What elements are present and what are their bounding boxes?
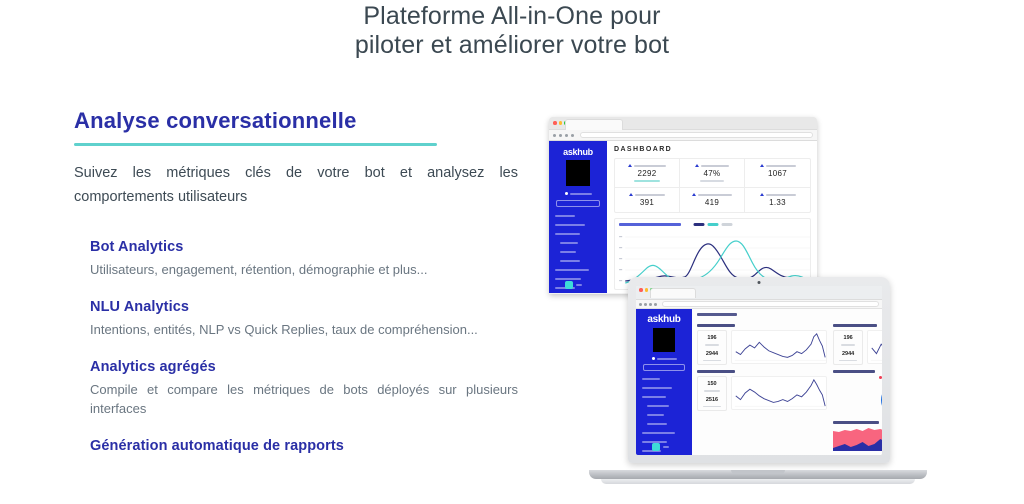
sidebar-nav [636, 378, 692, 452]
sidebar-user-row [636, 357, 692, 360]
laptop-notch [731, 470, 785, 474]
panel-body: 196 2944 [697, 330, 827, 365]
kpi-value: 419 [682, 198, 742, 207]
laptop-browser-toolbar [636, 300, 882, 309]
stat-caption [841, 344, 855, 346]
mini-line-chart [731, 376, 827, 410]
users-analytics-content: 196 2944 [692, 309, 882, 455]
chat-badge-icon[interactable] [652, 443, 660, 451]
kpi-card: 391 [615, 188, 680, 212]
browser-tab[interactable] [650, 288, 696, 298]
kpi-card: 1067 [745, 159, 810, 188]
donut-chart [881, 383, 882, 417]
kpi-label [617, 193, 677, 196]
address-bar[interactable] [662, 301, 879, 307]
sidebar-footer-label [576, 284, 582, 286]
kpi-card: 1.33 [745, 188, 810, 212]
close-icon[interactable] [639, 288, 643, 292]
stat-value: 2516 [699, 396, 725, 404]
kpi-card: 419 [680, 188, 745, 212]
kpi-label-text [766, 194, 796, 196]
sidebar-subitem-3[interactable] [647, 423, 667, 425]
kpi-label-text [634, 165, 666, 167]
back-icon[interactable] [639, 303, 642, 306]
panel-retention [833, 370, 882, 455]
panel-body: 150 2516 [697, 376, 827, 411]
laptop-browser-titlebar [636, 286, 882, 300]
close-icon[interactable] [553, 121, 557, 125]
stat-caption [703, 360, 721, 362]
user-icon [652, 357, 655, 360]
panel-recurring-users: 150 2516 [697, 370, 827, 455]
feature-title: Génération automatique de rapports [90, 436, 539, 456]
donut-chart-wrap [833, 381, 882, 417]
feature-title: Bot Analytics [90, 237, 539, 257]
sidebar-item-1[interactable] [642, 378, 660, 380]
sidebar-search-input[interactable] [556, 200, 600, 207]
trend-up-icon [628, 164, 632, 167]
sidebar-user-row [549, 192, 607, 195]
stat-caption [705, 344, 719, 346]
kpi-card: 2292 [615, 159, 680, 188]
browser-mockup: askhub DAS [549, 117, 817, 294]
feature-description: Compile et compare les métriques de bots… [90, 380, 518, 418]
laptop-viewport: askhub [636, 309, 882, 455]
stat-caption [839, 360, 857, 362]
panel-number-of-new-users: 196 2944 [833, 324, 882, 365]
panel-title [697, 370, 735, 373]
panel-title [697, 324, 735, 327]
retention-history-chart [833, 421, 882, 455]
page-headline: Plateforme All-in-One pour piloter et am… [0, 2, 1024, 60]
stat-caption [704, 390, 720, 392]
dashboard-title: DASHBOARD [614, 146, 811, 153]
reload-icon[interactable] [565, 134, 568, 137]
trend-up-icon [629, 193, 633, 196]
headline-line-1: Plateforme All-in-One pour [0, 2, 1024, 31]
kpi-subtext [700, 180, 724, 182]
laptop-lid: askhub [628, 277, 890, 463]
stat-value: 150 [699, 380, 725, 388]
trend-up-icon [760, 193, 764, 196]
feature-description: Intentions, entités, NLP vs Quick Replie… [90, 320, 520, 339]
brand-logo: askhub [636, 314, 692, 325]
stat-value: 196 [835, 334, 861, 342]
laptop-base [589, 470, 927, 479]
sidebar-footer-label [663, 446, 669, 448]
chat-badge-icon[interactable] [565, 281, 573, 289]
kpi-label [682, 164, 742, 167]
back-icon[interactable] [553, 134, 556, 137]
panel-body: 196 2944 [833, 330, 882, 365]
sidebar-item-2[interactable] [642, 387, 672, 389]
sidebar-subitem-1[interactable] [647, 405, 669, 407]
panel-title [833, 324, 877, 327]
brand-avatar [653, 328, 675, 352]
section-title: Analyse conversationnelle [74, 108, 539, 134]
legend-swatch-navy [693, 223, 704, 226]
chart-gridlines [625, 237, 810, 281]
sidebar-subitem-2[interactable] [560, 251, 576, 253]
kpi-grid: 2292 47% 1067 391 419 [614, 158, 811, 213]
brand-logo: askhub [549, 147, 607, 157]
kpi-value: 47% [682, 169, 742, 178]
stat-value: 2944 [699, 350, 725, 358]
sidebar-search-input[interactable] [643, 364, 685, 371]
stat-box: 150 2516 [697, 376, 727, 411]
trend-up-icon [692, 193, 696, 196]
camera-icon [758, 281, 761, 284]
kpi-label-text [698, 194, 732, 196]
chart-title [619, 223, 681, 226]
address-bar[interactable] [580, 132, 813, 138]
app-sidebar: askhub [636, 309, 692, 455]
sidebar-item-5[interactable] [555, 278, 581, 280]
mini-line-chart [867, 330, 882, 364]
sidebar-subitem-2[interactable] [647, 414, 664, 416]
sidebar-footer [565, 281, 582, 289]
chart-y-ticks [619, 236, 622, 281]
area-chart-title [833, 421, 879, 424]
kpi-value: 391 [617, 198, 677, 207]
legend-swatch-teal [707, 223, 718, 226]
app-sidebar: askhub [549, 141, 607, 293]
stat-box: 196 2944 [833, 330, 863, 365]
kpi-subtext [634, 180, 660, 182]
minimize-icon[interactable] [645, 288, 649, 292]
kpi-label-text [701, 165, 729, 167]
sidebar-item-3[interactable] [555, 233, 580, 235]
feature-description: Utilisateurs, engagement, rétention, dém… [90, 260, 520, 279]
laptop-screen: askhub [636, 286, 882, 455]
browser-titlebar [549, 117, 817, 130]
feature-title: Analytics agrégés [90, 357, 539, 377]
content-column: Analyse conversationnelle Suivez les mét… [74, 108, 539, 456]
feature-item-generation-rapports: Génération automatique de rapports [90, 436, 539, 456]
home-icon[interactable] [571, 134, 574, 137]
minimize-icon[interactable] [559, 121, 563, 125]
sidebar-user-label [657, 358, 677, 360]
feature-item-nlu-analytics: NLU Analytics Intentions, entités, NLP v… [90, 297, 539, 339]
stat-value: 2944 [835, 350, 861, 358]
stat-box: 196 2944 [697, 330, 727, 365]
feature-list: Bot Analytics Utilisateurs, engagement, … [90, 237, 539, 456]
sidebar-subitem-3[interactable] [560, 260, 580, 262]
user-icon [565, 192, 568, 195]
sidebar-item-4[interactable] [555, 269, 589, 271]
kpi-value: 2292 [617, 169, 677, 178]
feature-title: NLU Analytics [90, 297, 539, 317]
sidebar-user-label [570, 193, 592, 195]
sidebar-footer [652, 443, 669, 451]
reload-icon[interactable] [649, 303, 652, 306]
browser-tab[interactable] [565, 119, 623, 130]
dashboard-content: DASHBOARD 2292 47% 1067 [607, 141, 817, 293]
area-chart-svg [833, 427, 882, 451]
page-title [697, 313, 737, 316]
home-icon[interactable] [654, 303, 657, 306]
browser-viewport: askhub DAS [549, 141, 817, 293]
sidebar-subitem-1[interactable] [560, 242, 578, 244]
sidebar-item-3[interactable] [642, 396, 666, 398]
donut-legend [833, 376, 882, 379]
stat-caption [703, 406, 721, 408]
brand-avatar [566, 160, 590, 186]
kpi-label-text [766, 165, 796, 167]
browser-toolbar [549, 130, 817, 141]
headline-line-2: piloter et améliorer votre bot [0, 31, 1024, 60]
feature-item-analytics-agreges: Analytics agrégés Compile et compare les… [90, 357, 539, 418]
kpi-value: 1.33 [747, 198, 808, 207]
kpi-label [747, 193, 808, 196]
feature-item-bot-analytics: Bot Analytics Utilisateurs, engagement, … [90, 237, 539, 279]
section-lede: Suivez les métriques clés de votre bot e… [74, 161, 518, 209]
panel-number-of-users: 196 2944 [697, 324, 827, 365]
kpi-label-text [635, 194, 665, 196]
analytics-panels: 196 2944 [697, 324, 882, 455]
trend-up-icon [695, 164, 699, 167]
forward-icon[interactable] [559, 134, 562, 137]
sidebar-item-2[interactable] [555, 224, 585, 226]
legend-swatch-gray [721, 223, 732, 226]
stat-value: 196 [699, 334, 725, 342]
mini-line-chart [731, 330, 827, 364]
kpi-label [682, 193, 742, 196]
legend-dot-returning [879, 376, 882, 379]
chart-legend [693, 223, 732, 226]
forward-icon[interactable] [644, 303, 647, 306]
kpi-label [747, 164, 808, 167]
kpi-label [617, 164, 677, 167]
sidebar-item-1[interactable] [555, 215, 575, 217]
section-title-rule [74, 143, 437, 146]
kpi-value: 1067 [747, 169, 808, 178]
laptop-foot [601, 479, 915, 484]
panel-title [833, 370, 875, 373]
sidebar-item-4[interactable] [642, 432, 675, 434]
laptop-mockup: askhub [589, 277, 927, 487]
kpi-card: 47% [680, 159, 745, 188]
trend-up-icon [760, 164, 764, 167]
